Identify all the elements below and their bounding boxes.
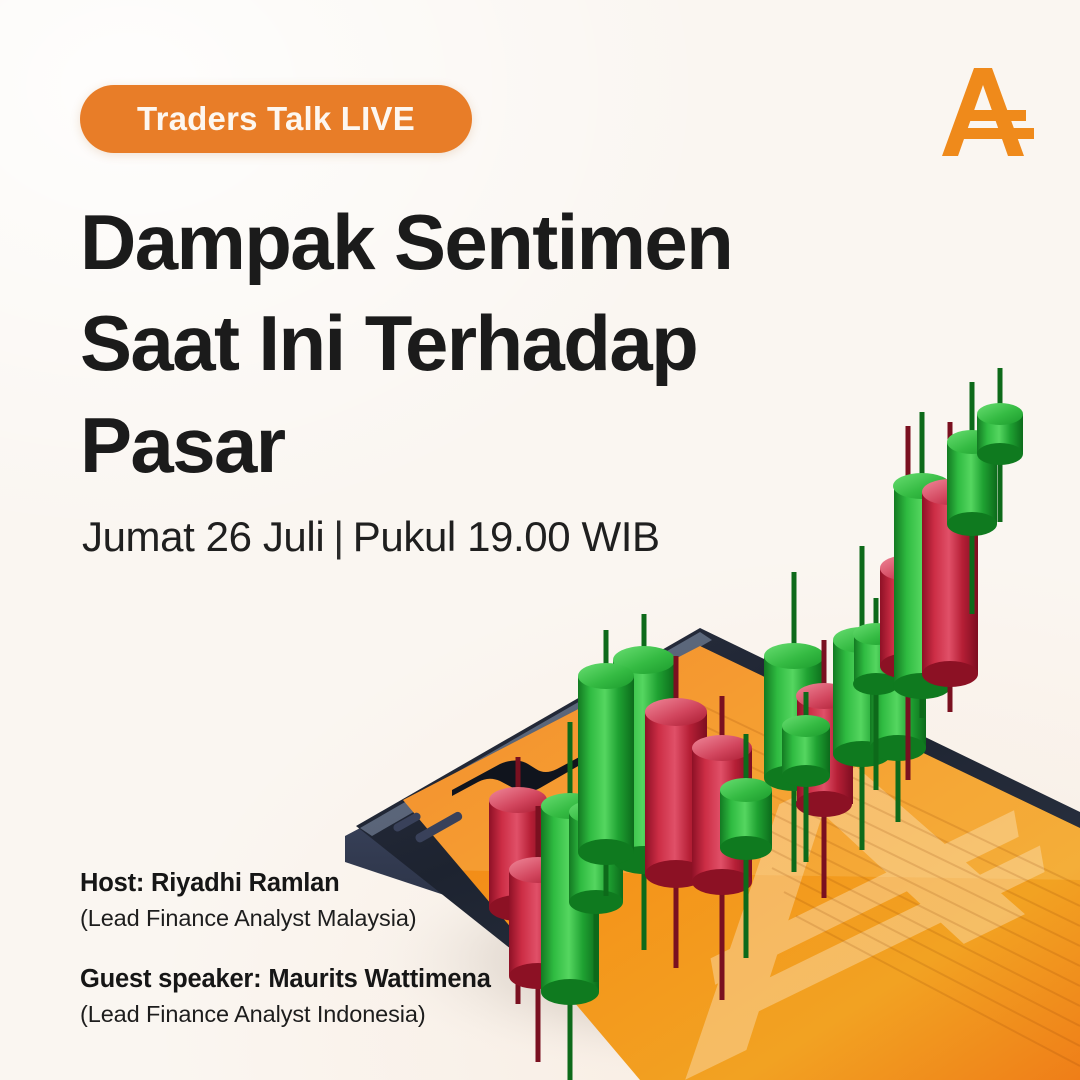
candle-bearish	[922, 422, 978, 712]
phone-frame-highlight	[360, 632, 712, 836]
candle-bullish	[541, 722, 599, 1080]
poster-canvas: Traders Talk LIVE Dampak Sentimen Saat I…	[0, 0, 1080, 1080]
candle-bullish	[578, 630, 634, 896]
event-datetime: Jumat 26 Juli|Pukul 19.00 WIB	[82, 513, 660, 561]
guest-name: Guest speaker: Maurits Wattimena	[80, 962, 491, 996]
candle-bullish	[613, 614, 675, 950]
event-date: Jumat 26 Juli	[82, 513, 324, 560]
candle-bullish	[764, 572, 824, 872]
screen-stripes	[690, 700, 1080, 1066]
candle-bullish	[947, 382, 997, 614]
screen-logo-watermark	[648, 690, 1050, 1079]
host-role: (Lead Finance Analyst Malaysia)	[80, 903, 491, 934]
live-badge-label: Traders Talk LIVE	[137, 100, 415, 138]
datetime-separator: |	[324, 513, 353, 561]
headline-line-2: Saat Ini Terhadap	[80, 293, 840, 394]
candle-bearish	[880, 426, 936, 780]
event-time: Pukul 19.00 WIB	[353, 513, 660, 560]
candle-bearish	[489, 757, 547, 1004]
candle-bullish	[893, 412, 952, 718]
phone-power-button	[392, 811, 422, 833]
credit-host: Host: Riyadhi Ramlan (Lead Finance Analy…	[80, 866, 491, 935]
headline-line-3: Pasar	[80, 395, 840, 496]
candle-bullish	[833, 546, 891, 850]
logo-letter-a-icon	[930, 58, 1038, 166]
phone-volume-button	[414, 810, 464, 843]
candle-bearish	[645, 656, 707, 968]
candle-bullish	[720, 734, 772, 958]
headline-line-1: Dampak Sentimen	[80, 192, 840, 293]
candle-bullish	[569, 744, 623, 982]
screen-light-streak	[403, 646, 1080, 880]
speaker-credits: Host: Riyadhi Ramlan (Lead Finance Analy…	[80, 866, 491, 1030]
guest-role: (Lead Finance Analyst Indonesia)	[80, 999, 491, 1030]
phone-notch	[452, 745, 608, 796]
candle-bullish	[977, 368, 1023, 522]
page-title: Dampak Sentimen Saat Ini Terhadap Pasar	[80, 192, 840, 496]
host-name: Host: Riyadhi Ramlan	[80, 866, 491, 900]
candle-bearish	[692, 696, 752, 1000]
candle-bearish	[796, 640, 853, 898]
credit-guest: Guest speaker: Maurits Wattimena (Lead F…	[80, 962, 491, 1031]
phone-screen	[403, 646, 1080, 1080]
candle-bearish	[509, 806, 567, 1062]
candle-bullish	[870, 582, 926, 822]
live-badge[interactable]: Traders Talk LIVE	[80, 85, 472, 153]
candle-bullish	[782, 692, 830, 862]
candle-bullish	[853, 598, 900, 790]
